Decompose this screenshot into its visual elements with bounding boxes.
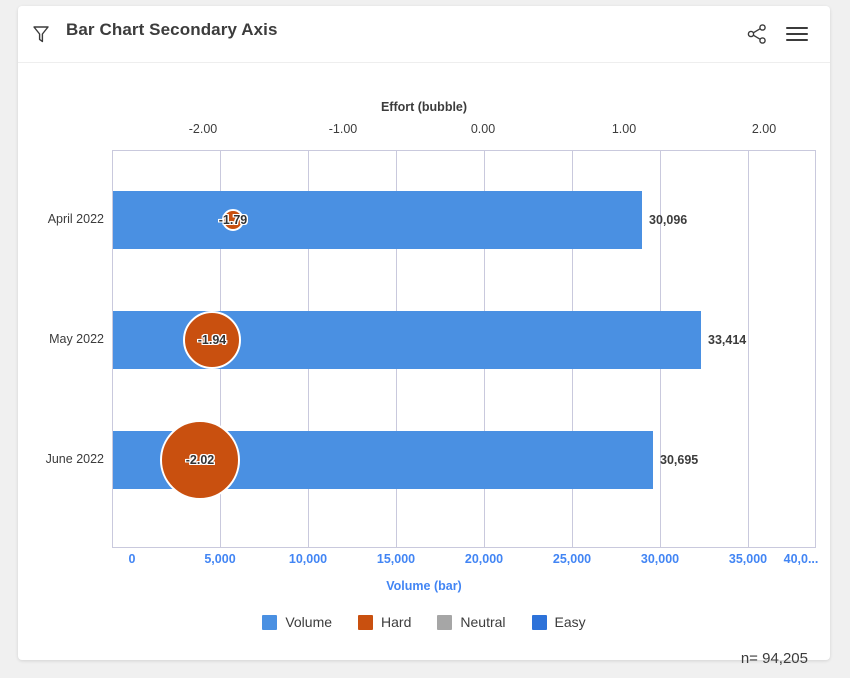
- category-label-may: May 2022: [18, 332, 104, 346]
- plot-area: 30,096 33,414 30,695 -1.79 -1.94 -2.02: [112, 150, 816, 548]
- legend-label-hard: Hard: [381, 614, 411, 630]
- sample-size-label: n= 94,205: [741, 650, 808, 667]
- legend-swatch-hard: [358, 615, 373, 630]
- top-axis-title: Effort (bubble): [18, 100, 830, 114]
- bubble-value-label-june: -2.02: [186, 453, 215, 467]
- bar-value-label-april: 30,096: [649, 191, 687, 249]
- filter-funnel-icon[interactable]: [30, 23, 52, 45]
- bar-value-label-may: 33,414: [708, 311, 746, 369]
- menu-line-1: [786, 27, 808, 29]
- chart-card: Bar Chart Secondary Axis Effort (bubble)…: [18, 6, 830, 660]
- bottom-axis-tick: 5,000: [204, 552, 235, 566]
- bottom-axis-title: Volume (bar): [18, 579, 830, 593]
- bottom-axis-tick: 40,0...: [784, 552, 819, 566]
- category-label-april: April 2022: [18, 212, 104, 226]
- card-header: Bar Chart Secondary Axis: [18, 6, 830, 63]
- menu-line-3: [786, 39, 808, 41]
- legend-label-neutral: Neutral: [460, 614, 505, 630]
- bar-value-label-june: 30,695: [660, 431, 698, 489]
- legend-label-volume: Volume: [285, 614, 332, 630]
- bottom-axis-tick: 30,000: [641, 552, 679, 566]
- bottom-axis-tick: 20,000: [465, 552, 503, 566]
- legend-item-neutral[interactable]: Neutral: [437, 614, 505, 630]
- bottom-axis-tick: 0: [129, 552, 136, 566]
- top-axis-tick: 2.00: [752, 122, 776, 136]
- bottom-axis-tick: 10,000: [289, 552, 327, 566]
- top-axis-tick: -2.00: [189, 122, 218, 136]
- legend-item-volume[interactable]: Volume: [262, 614, 332, 630]
- share-icon[interactable]: [746, 23, 768, 45]
- category-label-june: June 2022: [18, 452, 104, 466]
- chart-container: Effort (bubble) -2.00 -1.00 0.00 1.00 2.…: [18, 62, 830, 660]
- top-axis-tick: 0.00: [471, 122, 495, 136]
- bottom-axis-tick: 35,000: [729, 552, 767, 566]
- bubble-effort-april[interactable]: -1.79: [222, 209, 244, 231]
- top-axis-tick: -1.00: [329, 122, 358, 136]
- page-title: Bar Chart Secondary Axis: [66, 20, 278, 40]
- hamburger-menu-icon[interactable]: [786, 23, 810, 45]
- chart-legend: Volume Hard Neutral Easy: [18, 614, 830, 630]
- legend-swatch-easy: [532, 615, 547, 630]
- legend-item-easy[interactable]: Easy: [532, 614, 586, 630]
- legend-label-easy: Easy: [555, 614, 586, 630]
- legend-swatch-volume: [262, 615, 277, 630]
- bottom-axis-tick: 25,000: [553, 552, 591, 566]
- bubble-value-label-may: -1.94: [198, 333, 227, 347]
- legend-swatch-neutral: [437, 615, 452, 630]
- bar-volume-april[interactable]: [113, 191, 642, 249]
- top-axis-tick: 1.00: [612, 122, 636, 136]
- bottom-axis-tick: 15,000: [377, 552, 415, 566]
- legend-item-hard[interactable]: Hard: [358, 614, 411, 630]
- gridline-35000: [748, 151, 749, 547]
- bubble-value-label-april: -1.79: [219, 213, 248, 227]
- bubble-effort-may[interactable]: -1.94: [183, 311, 241, 369]
- bubble-effort-june[interactable]: -2.02: [160, 420, 240, 500]
- menu-line-2: [786, 33, 808, 35]
